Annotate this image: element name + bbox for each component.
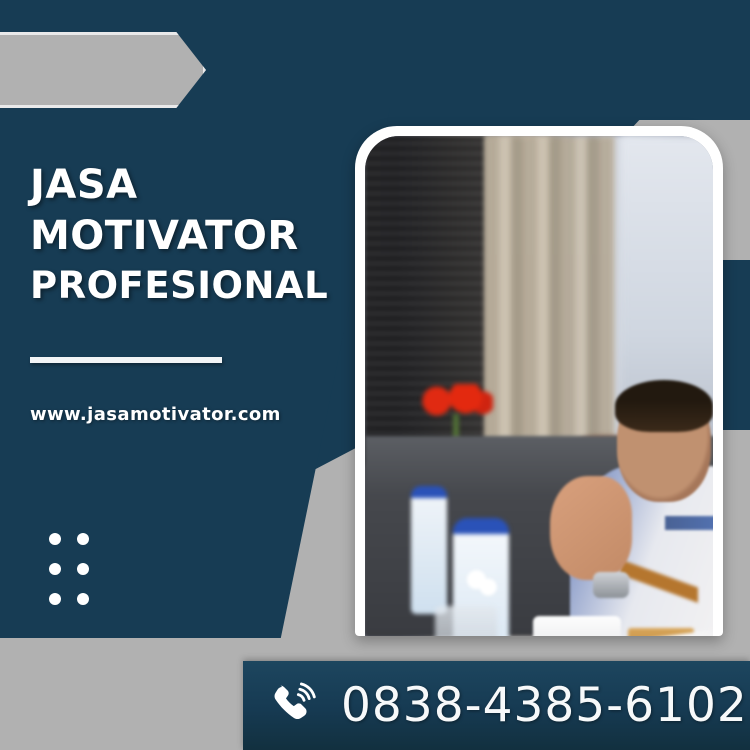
dot	[49, 533, 61, 545]
phone-ringing-icon	[269, 679, 323, 733]
decorative-dot-grid	[49, 533, 89, 605]
headline-line-1: JASA	[30, 160, 360, 211]
photo-image	[365, 136, 713, 636]
headline-line-3: PROFESIONAL	[30, 262, 360, 309]
dot	[77, 533, 89, 545]
photo-card	[355, 126, 723, 636]
dot	[49, 563, 61, 575]
contact-bar[interactable]: 0838-4385-6102	[243, 661, 750, 750]
arrow-banner	[0, 32, 206, 108]
dot	[77, 593, 89, 605]
dot	[77, 563, 89, 575]
poster: JASA MOTIVATOR PROFESIONAL www.jasamotiv…	[0, 0, 750, 750]
divider	[30, 357, 222, 363]
phone-number: 0838-4385-6102	[341, 678, 748, 733]
dot	[49, 593, 61, 605]
website-url[interactable]: www.jasamotivator.com	[30, 404, 281, 425]
headline-line-2: MOTIVATOR	[30, 211, 360, 262]
page-title: JASA MOTIVATOR PROFESIONAL	[30, 160, 360, 310]
